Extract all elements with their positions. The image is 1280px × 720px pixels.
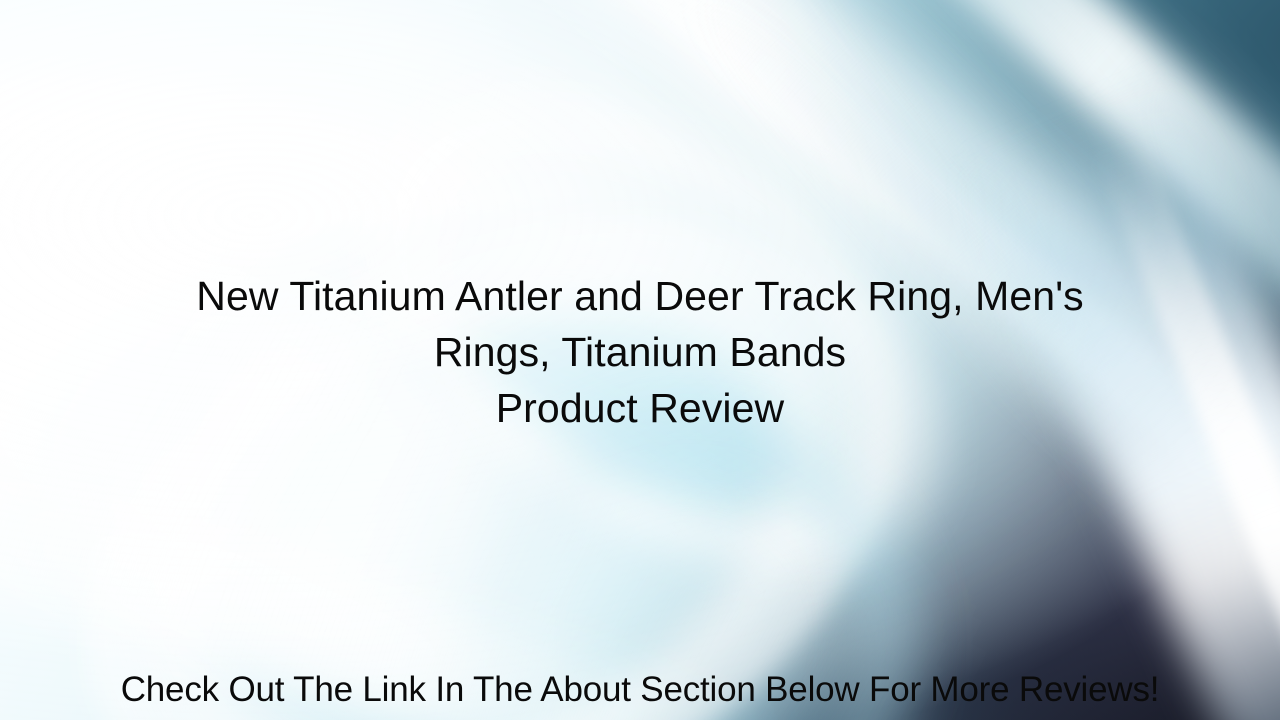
product-title: New Titanium Antler and Deer Track Ring,… [0,268,1280,436]
title-line-3: Product Review [0,380,1280,436]
title-card: New Titanium Antler and Deer Track Ring,… [0,0,1280,720]
title-line-1: New Titanium Antler and Deer Track Ring,… [0,268,1280,324]
title-line-2: Rings, Titanium Bands [0,324,1280,380]
call-to-action-caption: Check Out The Link In The About Section … [0,668,1280,712]
